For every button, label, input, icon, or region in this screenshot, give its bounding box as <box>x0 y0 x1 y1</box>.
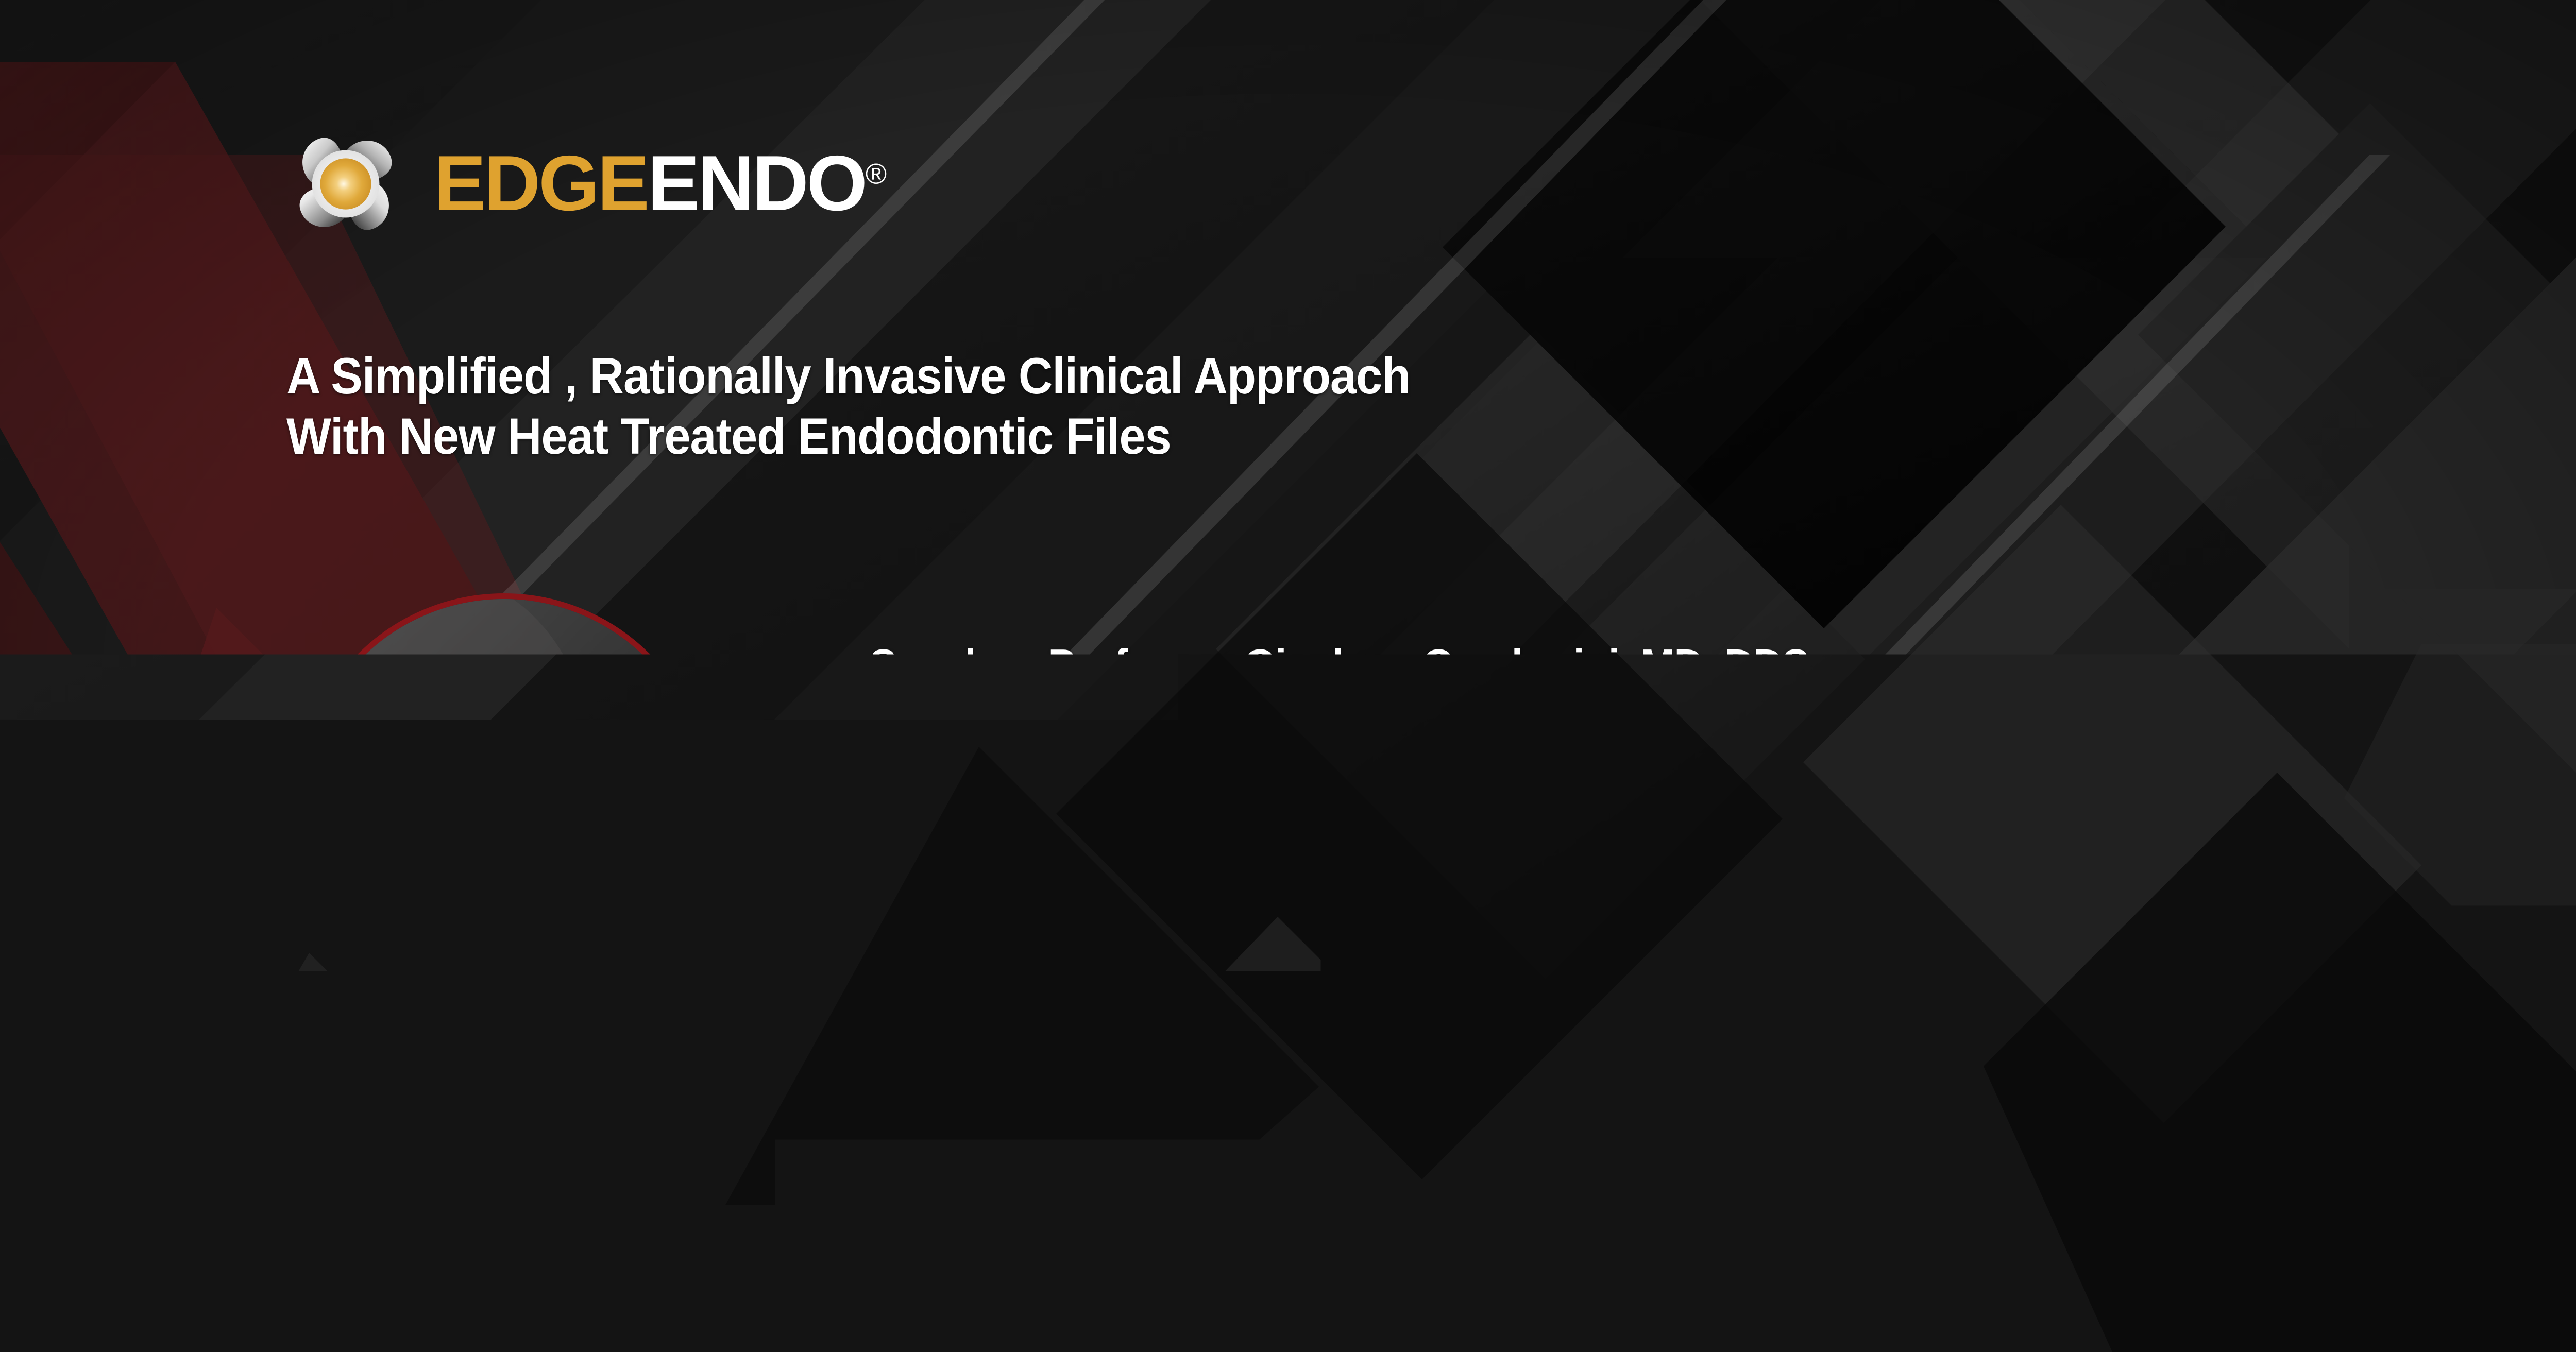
speaker-text: Speaker: Professor Gianluca Gambarini, M… <box>870 640 1809 688</box>
speaker-portrait-illustration <box>303 599 704 1000</box>
brand-wordmark: EDGEENDO® <box>434 144 887 223</box>
speaker-affiliation: La Sapienza University of Rome Director … <box>286 1072 702 1151</box>
live-badge: (LIVE) <box>1602 871 1716 919</box>
detail-row-speaker: Speaker: Professor Gianluca Gambarini, M… <box>870 643 2412 686</box>
brand-logo[interactable]: EDGEENDO® <box>284 119 892 248</box>
category-text: Category: Endodontics <box>870 756 1306 803</box>
brand-word-endo: ENDO <box>648 140 866 227</box>
detail-row-date: Date: November 19th at 7:00 PM CEST (LIV… <box>870 874 2412 916</box>
affiliation-line-2: Director of Masters in Endodontics <box>286 1111 702 1151</box>
webinar-details: Speaker: Professor Gianluca Gambarini, M… <box>870 643 2493 916</box>
title-line-2: With New Heat Treated Endodontic Files <box>286 406 2011 467</box>
detail-row-category: Category: Endodontics <box>870 758 2412 801</box>
edgeendo-aperture-logo-icon <box>284 123 407 245</box>
page-title: A Simplified , Rationally Invasive Clini… <box>286 346 2011 467</box>
affiliation-line-1: La Sapienza University of Rome <box>286 1072 702 1111</box>
speaker-avatar <box>298 593 710 1005</box>
registered-trademark-icon: ® <box>866 157 887 190</box>
brand-word-edge: EDGE <box>434 140 648 227</box>
title-line-1: A Simplified , Rationally Invasive Clini… <box>286 346 2011 406</box>
webinar-banner: EDGEENDO® A Simplified , Rationally Inva… <box>0 0 2576 1352</box>
date-text: Date: November 19th at 7:00 PM CEST <box>870 871 1591 919</box>
